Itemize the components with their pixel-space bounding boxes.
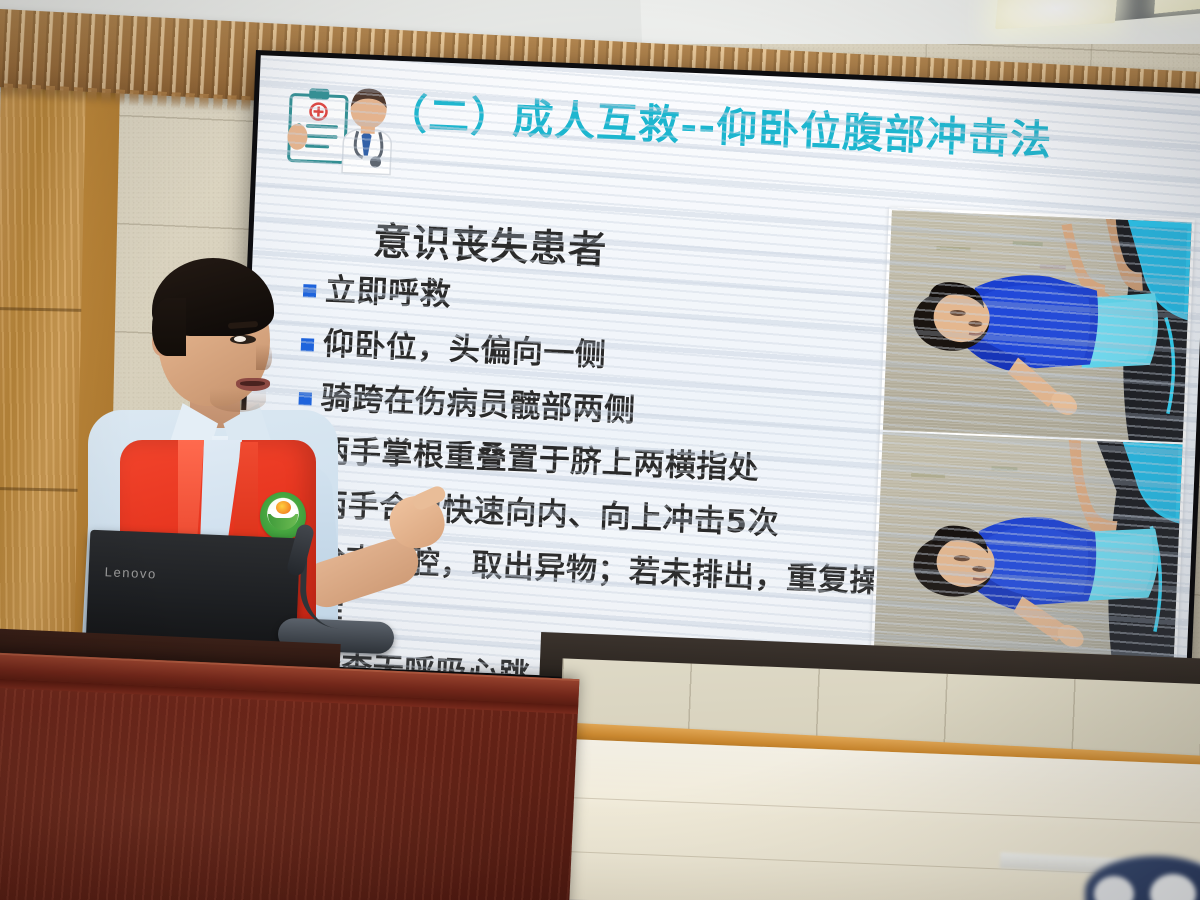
presenter-mouth-inner <box>240 381 265 386</box>
presenter-chin-shadow <box>210 388 266 412</box>
bullet-text: 两手掌根重叠置于脐上两横指处 <box>318 433 917 495</box>
presenter-sideburn <box>152 298 186 356</box>
abdominal-thrust-photo-bottom <box>874 432 1183 662</box>
projection-screen[interactable]: （二）成人互救--仰卧位腹部冲击法 意识丧失患者 立即呼救 仰卧位，头偏向一侧 … <box>231 50 1200 707</box>
podium <box>0 652 579 900</box>
presenter-eye-highlight <box>234 336 246 342</box>
slide-bullet-item: 立即呼救 <box>302 271 923 334</box>
presenter-nose <box>256 344 272 370</box>
slide-photo-group <box>871 207 1195 665</box>
slide-bullet-item: 两手掌根重叠置于脐上两横指处 <box>296 432 917 495</box>
slide-bullet-item: 骑跨在伤病员髋部两侧 <box>298 379 919 442</box>
bullet-text: 仰卧位，头偏向一侧 <box>322 326 921 388</box>
bullet-text: 立即呼救 <box>324 272 923 334</box>
podium-wood-grain <box>0 687 578 900</box>
slide-bullet-item: 仰卧位，头偏向一侧 <box>300 325 921 388</box>
slide-subtitle: 意识丧失患者 <box>372 210 608 275</box>
laptop[interactable]: Lenovo <box>86 530 301 651</box>
bullet-text: 骑跨在伤病员髋部两侧 <box>320 380 919 442</box>
presentation-slide: （二）成人互救--仰卧位腹部冲击法 意识丧失患者 立即呼救 仰卧位，头偏向一侧 … <box>236 55 1200 701</box>
slide-title: （二）成人互救--仰卧位腹部冲击法 <box>386 90 1177 169</box>
laptop-brand-label: Lenovo <box>104 564 157 581</box>
lecture-hall-photo: （二）成人互救--仰卧位腹部冲击法 意识丧失患者 立即呼救 仰卧位，头偏向一侧 … <box>0 0 1200 900</box>
abdominal-thrust-photo-top <box>883 210 1192 442</box>
